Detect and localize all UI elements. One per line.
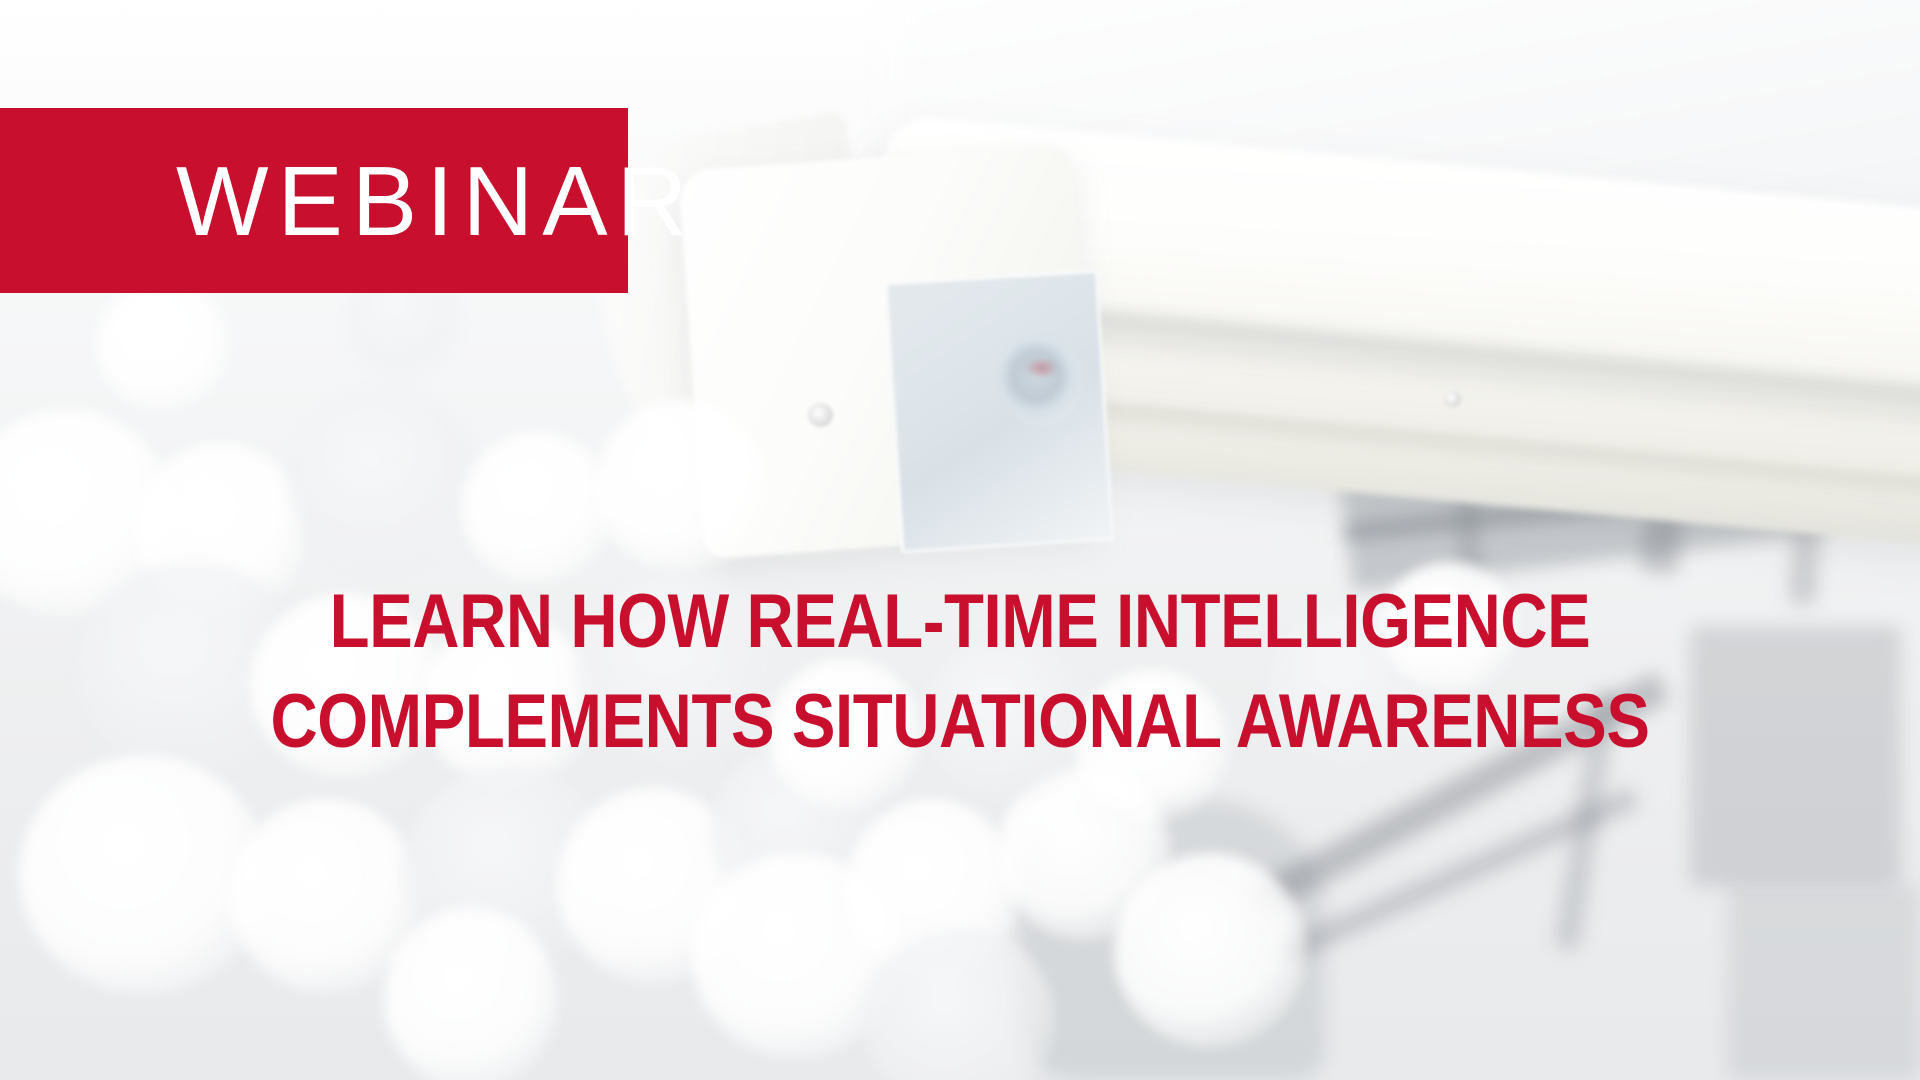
headline-line-2: COMPLEMENTS SITUATIONAL AWARENESS (169, 672, 1751, 772)
bokeh-blob (461, 432, 615, 583)
camera-lens-icon (998, 335, 1082, 426)
webinar-tag: WEBINAR (0, 108, 628, 293)
headline-line-1: LEARN HOW REAL-TIME INTELLIGENCE (169, 572, 1751, 672)
headline: LEARN HOW REAL-TIME INTELLIGENCE COMPLEM… (0, 572, 1920, 773)
camera-lens-glint (1025, 361, 1058, 375)
camera-pivot-screw (808, 403, 833, 427)
bokeh-blob (595, 400, 768, 573)
bokeh-blob (1114, 853, 1306, 1047)
bokeh-blob (288, 389, 480, 573)
bokeh-blob (384, 907, 557, 1080)
webinar-tag-label: WEBINAR (176, 152, 696, 250)
bokeh-blob (96, 281, 230, 411)
camera-lens-window (885, 270, 1114, 553)
foreground-block (1728, 886, 1920, 1080)
webinar-banner: WEBINAR LEARN HOW REAL-TIME INTELLIGENCE… (0, 0, 1920, 1080)
